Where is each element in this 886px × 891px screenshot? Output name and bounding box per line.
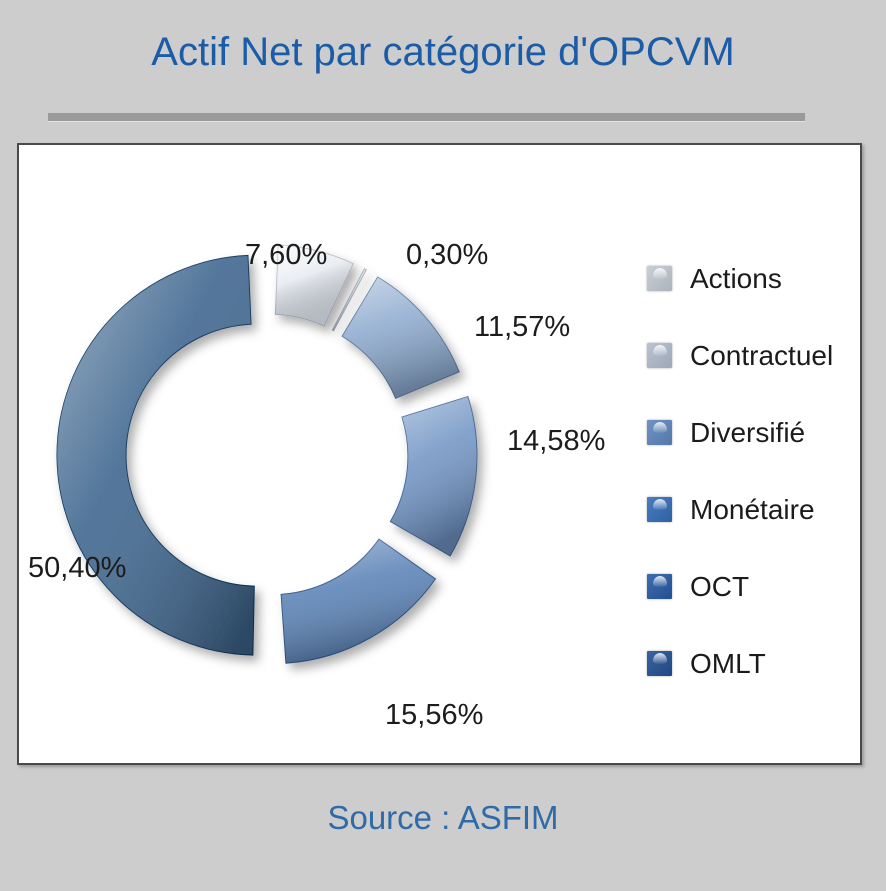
donut-slice-oct[interactable]	[281, 539, 435, 663]
donut-slice-gloss	[342, 277, 459, 398]
donut-chart: 7,60% 0,30% 11,57% 14,58% 15,56% 50,40%	[19, 145, 639, 763]
legend-label-contractuel: Contractuel	[690, 341, 833, 371]
legend-label-diversifie: Diversifié	[690, 418, 805, 448]
donut-slice-monetaire[interactable]	[390, 397, 477, 556]
page-title: Actif Net par catégorie d'OPCVM	[0, 26, 886, 78]
donut-slice-group	[57, 245, 477, 663]
data-label-contractuel: 0,30%	[406, 241, 488, 270]
legend-swatch-icon-oct	[647, 574, 672, 599]
legend-swatch-icon-contractuel	[647, 343, 672, 368]
legend-item-contractuel[interactable]: Contractuel	[647, 317, 862, 394]
legend-swatch-icon-monetaire	[647, 497, 672, 522]
data-label-omlt: 50,40%	[28, 554, 126, 583]
chart-legend: Actions Contractuel Diversifié Monétaire…	[647, 240, 862, 702]
legend-item-diversifie[interactable]: Diversifié	[647, 394, 862, 471]
legend-swatch-icon-actions	[647, 266, 672, 291]
source-caption: Source : ASFIM	[0, 798, 886, 838]
legend-item-actions[interactable]: Actions	[647, 240, 862, 317]
legend-swatch-icon-omlt	[647, 651, 672, 676]
legend-label-actions: Actions	[690, 264, 782, 294]
title-divider	[48, 113, 805, 122]
donut-slice-gloss	[390, 397, 477, 556]
legend-label-monetaire: Monétaire	[690, 495, 815, 525]
donut-slice-gloss	[57, 255, 254, 655]
data-label-diversifie: 11,57%	[474, 313, 570, 342]
donut-slice-omlt[interactable]	[57, 255, 254, 655]
data-label-monetaire: 14,58%	[507, 427, 605, 456]
data-label-actions: 7,60%	[245, 241, 327, 270]
donut-slice-diversifie[interactable]	[342, 277, 459, 398]
data-label-oct: 15,56%	[385, 701, 483, 730]
legend-label-oct: OCT	[690, 572, 749, 602]
legend-item-omlt[interactable]: OMLT	[647, 625, 862, 702]
legend-label-omlt: OMLT	[690, 649, 766, 679]
chart-frame: 7,60% 0,30% 11,57% 14,58% 15,56% 50,40% …	[17, 143, 862, 765]
legend-item-oct[interactable]: OCT	[647, 548, 862, 625]
legend-swatch-icon-diversifie	[647, 420, 672, 445]
legend-item-monetaire[interactable]: Monétaire	[647, 471, 862, 548]
